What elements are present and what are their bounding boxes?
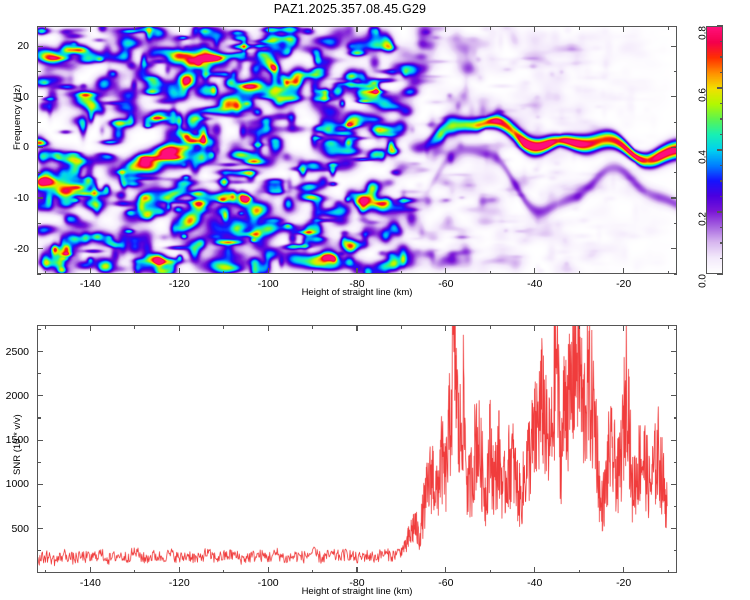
snr-ytick-right bbox=[671, 440, 677, 441]
spectrogram-xtick-top bbox=[534, 26, 535, 32]
snr-xtick-top bbox=[623, 325, 624, 331]
snr-yaxis-title: SNR (10 * v/v) bbox=[12, 414, 23, 475]
spectrogram-xtick bbox=[268, 268, 269, 274]
colorbar-tick-label: 0.0 bbox=[698, 274, 709, 288]
snr-ytick-minor bbox=[37, 417, 41, 418]
colorbar-tick bbox=[717, 87, 723, 88]
snr-ytick-minor-right bbox=[674, 373, 678, 374]
spectrogram-xtick-label: -120 bbox=[169, 278, 190, 290]
spectrogram-ytick-minor-right bbox=[674, 273, 678, 274]
snr-xtick-label: -20 bbox=[616, 577, 631, 589]
snr-canvas bbox=[38, 326, 676, 572]
snr-xtick-minor-top bbox=[134, 325, 135, 329]
spectrogram-xtick-label: -40 bbox=[527, 278, 542, 290]
spectrogram-ytick bbox=[37, 46, 43, 47]
spectrogram-xtick-minor bbox=[668, 271, 669, 275]
colorbar-tick-label: 0.6 bbox=[698, 88, 709, 102]
snr-ytick-right bbox=[671, 395, 677, 396]
spectrogram-ytick-minor-right bbox=[674, 172, 678, 173]
snr-xtick-minor-top bbox=[45, 325, 46, 329]
spectrogram-xtick-minor bbox=[134, 271, 135, 275]
snr-ytick bbox=[37, 440, 43, 441]
spectrogram-yaxis-title: Frequency (Hz) bbox=[12, 85, 23, 150]
spectrogram-ytick-right bbox=[671, 46, 677, 47]
snr-xtick-minor bbox=[490, 570, 491, 574]
spectrogram-canvas bbox=[38, 27, 676, 273]
spectrogram-ytick bbox=[37, 147, 43, 148]
snr-xtick bbox=[445, 567, 446, 573]
spectrogram-ytick-minor bbox=[37, 122, 41, 123]
snr-xtick bbox=[356, 567, 357, 573]
colorbar-minor-tick bbox=[720, 134, 724, 135]
snr-ytick-minor bbox=[37, 506, 41, 507]
colorbar-minor-tick bbox=[720, 227, 724, 228]
snr-xtick-top bbox=[356, 325, 357, 331]
spectrogram-xaxis-title: Height of straight line (km) bbox=[302, 287, 413, 298]
snr-xtick-minor bbox=[223, 570, 224, 574]
colorbar-tick bbox=[717, 149, 723, 150]
snr-ytick-label: 500 bbox=[0, 523, 29, 535]
snr-xtick-minor bbox=[134, 570, 135, 574]
spectrogram-ytick-right bbox=[671, 96, 677, 97]
spectrogram-xtick-label: -60 bbox=[438, 278, 453, 290]
spectrogram-xtick-top bbox=[623, 26, 624, 32]
snr-xtick-minor bbox=[312, 570, 313, 574]
spectrogram-ytick-right bbox=[671, 197, 677, 198]
snr-ytick-right bbox=[671, 484, 677, 485]
spectrogram-xtick-minor bbox=[401, 271, 402, 275]
snr-xtick-minor-top bbox=[312, 325, 313, 329]
snr-ytick-label: 2000 bbox=[0, 390, 29, 402]
spectrogram-xtick bbox=[90, 268, 91, 274]
spectrogram-xtick-minor-top bbox=[668, 26, 669, 30]
snr-panel bbox=[37, 325, 677, 573]
colorbar-tick bbox=[717, 273, 723, 274]
spectrogram-xtick-label: -100 bbox=[258, 278, 279, 290]
snr-ytick-minor-right bbox=[674, 462, 678, 463]
spectrogram-xtick-top bbox=[268, 26, 269, 32]
spectrogram-ytick-minor-right bbox=[674, 223, 678, 224]
snr-xtick-minor bbox=[401, 570, 402, 574]
snr-xtick-label: -100 bbox=[258, 577, 279, 589]
spectrogram-xtick bbox=[179, 268, 180, 274]
spectrogram-panel bbox=[37, 26, 677, 274]
snr-xaxis-title: Height of straight line (km) bbox=[302, 586, 413, 597]
snr-ytick bbox=[37, 351, 43, 352]
spectrogram-ytick-minor-right bbox=[674, 122, 678, 123]
snr-ytick-label: 1000 bbox=[0, 478, 29, 490]
snr-xtick-top bbox=[268, 325, 269, 331]
snr-ytick-minor-right bbox=[674, 417, 678, 418]
spectrogram-ytick bbox=[37, 248, 43, 249]
spectrogram-ytick-label: 20 bbox=[0, 40, 29, 52]
colorbar-tick-label: 0.8 bbox=[698, 26, 709, 40]
snr-xtick bbox=[179, 567, 180, 573]
colorbar-tick bbox=[717, 211, 723, 212]
snr-xtick-minor-top bbox=[401, 325, 402, 329]
spectrogram-xtick-minor bbox=[45, 271, 46, 275]
spectrogram-xtick bbox=[356, 268, 357, 274]
colorbar-minor-tick bbox=[720, 258, 724, 259]
snr-ytick-right bbox=[671, 528, 677, 529]
spectrogram-ytick-right bbox=[671, 248, 677, 249]
spectrogram-xtick-minor-top bbox=[223, 26, 224, 30]
snr-xtick-minor bbox=[45, 570, 46, 574]
colorbar-tick-label: 0.2 bbox=[698, 212, 709, 226]
colorbar-tick bbox=[717, 25, 723, 26]
spectrogram-ytick-label: -10 bbox=[0, 192, 29, 204]
snr-xtick-minor-top bbox=[579, 325, 580, 329]
colorbar-minor-tick bbox=[720, 56, 724, 57]
page-title: PAZ1.2025.357.08.45.G29 bbox=[0, 2, 700, 16]
colorbar-minor-tick bbox=[720, 118, 724, 119]
spectrogram-xtick-minor-top bbox=[45, 26, 46, 30]
spectrogram-xtick-minor-top bbox=[401, 26, 402, 30]
snr-xtick-top bbox=[179, 325, 180, 331]
spectrogram-xtick-label: -20 bbox=[616, 278, 631, 290]
spectrogram-xtick-minor-top bbox=[312, 26, 313, 30]
snr-ytick bbox=[37, 395, 43, 396]
colorbar-minor-tick bbox=[720, 41, 724, 42]
snr-ytick-minor bbox=[37, 550, 41, 551]
snr-ytick-minor bbox=[37, 462, 41, 463]
colorbar-minor-tick bbox=[720, 103, 724, 104]
spectrogram-xtick-minor-top bbox=[579, 26, 580, 30]
snr-ytick-minor-right bbox=[674, 550, 678, 551]
colorbar-minor-tick bbox=[720, 72, 724, 73]
snr-xtick-minor-top bbox=[223, 325, 224, 329]
spectrogram-xtick-top bbox=[90, 26, 91, 32]
colorbar-minor-tick bbox=[720, 242, 724, 243]
spectrogram-ytick-minor bbox=[37, 172, 41, 173]
spectrogram-ytick-minor-right bbox=[674, 71, 678, 72]
snr-xtick-minor bbox=[668, 570, 669, 574]
spectrogram-xtick-minor-top bbox=[134, 26, 135, 30]
snr-ytick-minor-right bbox=[674, 506, 678, 507]
snr-xtick-label: -60 bbox=[438, 577, 453, 589]
colorbar-minor-tick bbox=[720, 196, 724, 197]
snr-xtick-minor bbox=[579, 570, 580, 574]
snr-ytick-label: 2500 bbox=[0, 346, 29, 358]
snr-xtick bbox=[623, 567, 624, 573]
snr-xtick-top bbox=[534, 325, 535, 331]
spectrogram-xtick-minor bbox=[312, 271, 313, 275]
spectrogram-xtick-minor bbox=[223, 271, 224, 275]
spectrogram-ytick-right bbox=[671, 147, 677, 148]
snr-ytick-minor-right bbox=[674, 329, 678, 330]
snr-xtick-top bbox=[90, 325, 91, 331]
snr-xtick-label: -40 bbox=[527, 577, 542, 589]
snr-xtick-minor-top bbox=[668, 325, 669, 329]
snr-xtick bbox=[268, 567, 269, 573]
colorbar-minor-tick bbox=[720, 165, 724, 166]
snr-xtick-label: -120 bbox=[169, 577, 190, 589]
spectrogram-xtick-top bbox=[179, 26, 180, 32]
snr-xtick bbox=[90, 567, 91, 573]
snr-xtick-label: -140 bbox=[80, 577, 101, 589]
spectrogram-xtick bbox=[623, 268, 624, 274]
snr-ytick bbox=[37, 484, 43, 485]
spectrogram-ytick-minor bbox=[37, 273, 41, 274]
colorbar-tick-label: 0.4 bbox=[698, 150, 709, 164]
spectrogram-xtick-top bbox=[356, 26, 357, 32]
spectrogram-xtick bbox=[445, 268, 446, 274]
spectrogram-ytick bbox=[37, 197, 43, 198]
colorbar-minor-tick bbox=[720, 180, 724, 181]
snr-xtick-top bbox=[445, 325, 446, 331]
snr-ytick-minor bbox=[37, 373, 41, 374]
spectrogram-xtick bbox=[534, 268, 535, 274]
spectrogram-xtick-minor-top bbox=[490, 26, 491, 30]
snr-ytick-right bbox=[671, 351, 677, 352]
snr-ytick bbox=[37, 528, 43, 529]
spectrogram-xtick-top bbox=[445, 26, 446, 32]
snr-xtick-minor-top bbox=[490, 325, 491, 329]
snr-ytick-minor bbox=[37, 329, 41, 330]
spectrogram-xtick-label: -140 bbox=[80, 278, 101, 290]
spectrogram-xtick-minor bbox=[579, 271, 580, 275]
spectrogram-xtick-minor bbox=[490, 271, 491, 275]
spectrogram-ytick-minor bbox=[37, 223, 41, 224]
spectrogram-ytick bbox=[37, 96, 43, 97]
spectrogram-ytick-label: -20 bbox=[0, 243, 29, 255]
spectrogram-ytick-minor bbox=[37, 71, 41, 72]
snr-xtick bbox=[534, 567, 535, 573]
